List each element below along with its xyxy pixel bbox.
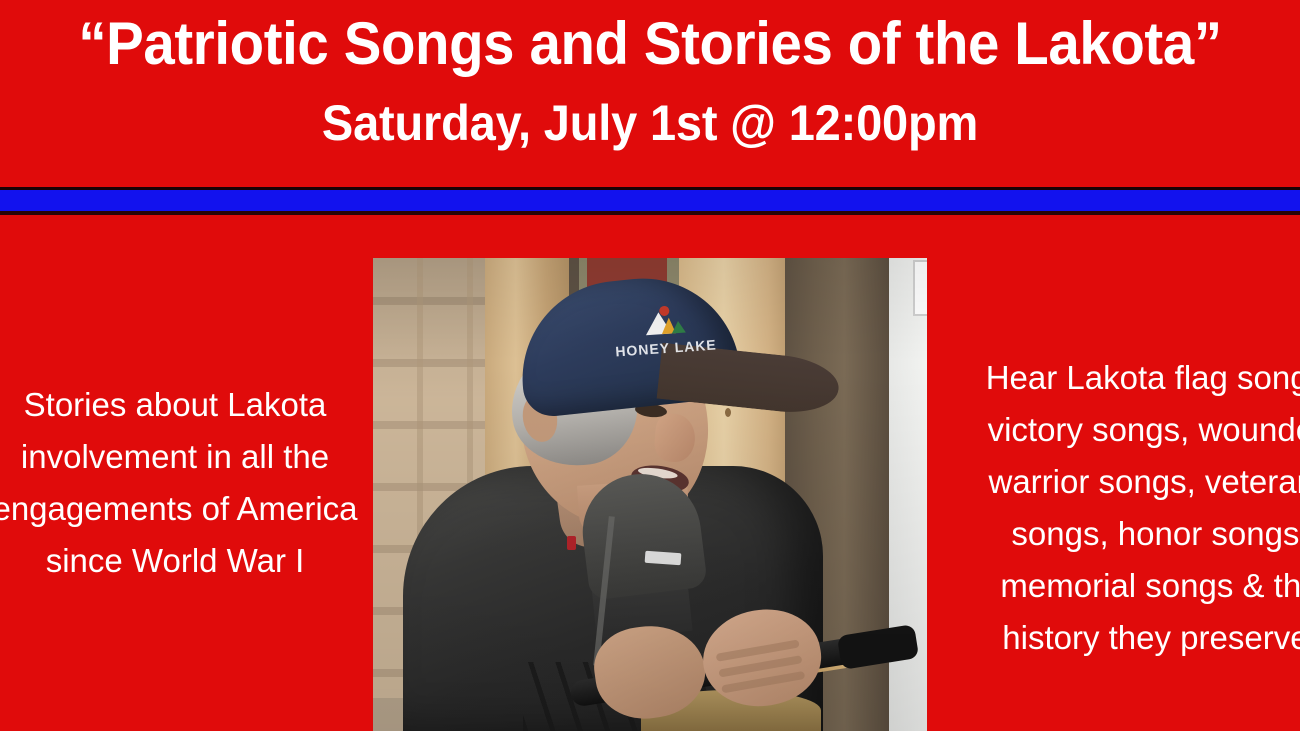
left-text-line: involvement in all the (0, 431, 385, 483)
poster-subtitle: Saturday, July 1st @ 12:00pm (39, 98, 1261, 148)
stripe-rule-bottom (0, 211, 1300, 215)
speaker-photo: HONEY LAKE (373, 258, 927, 731)
photo-scene: HONEY LAKE (373, 258, 927, 731)
jacket-brand-logo (645, 551, 682, 565)
right-text-line: Hear Lakota flag songs, (950, 352, 1300, 404)
cap-logo-icon (640, 302, 688, 339)
right-text-line: songs, honor songs, (950, 508, 1300, 560)
right-text-line: victory songs, wounded (950, 404, 1300, 456)
right-text-line: warrior songs, veterans (950, 456, 1300, 508)
blue-stripe (0, 190, 1300, 211)
right-text-line: memorial songs & the (950, 560, 1300, 612)
poster-header: “Patriotic Songs and Stories of the Lako… (0, 0, 1300, 187)
poster-body: Stories about Lakota involvement in all … (0, 216, 1300, 731)
framed-notice (913, 260, 927, 316)
left-text-line: Stories about Lakota (0, 379, 385, 431)
left-text-line: engagements of America (0, 483, 385, 535)
flag-stripe-divider (0, 187, 1300, 216)
event-poster: “Patriotic Songs and Stories of the Lako… (0, 0, 1300, 731)
right-description-text: Hear Lakota flag songs, victory songs, w… (950, 352, 1300, 664)
jacket-red-tab (567, 536, 576, 550)
right-text-line: history they preserve! (950, 612, 1300, 664)
poster-title: “Patriotic Songs and Stories of the Lako… (39, 14, 1261, 74)
left-text-line: since World War I (0, 535, 385, 587)
left-description-text: Stories about Lakota involvement in all … (0, 379, 385, 587)
